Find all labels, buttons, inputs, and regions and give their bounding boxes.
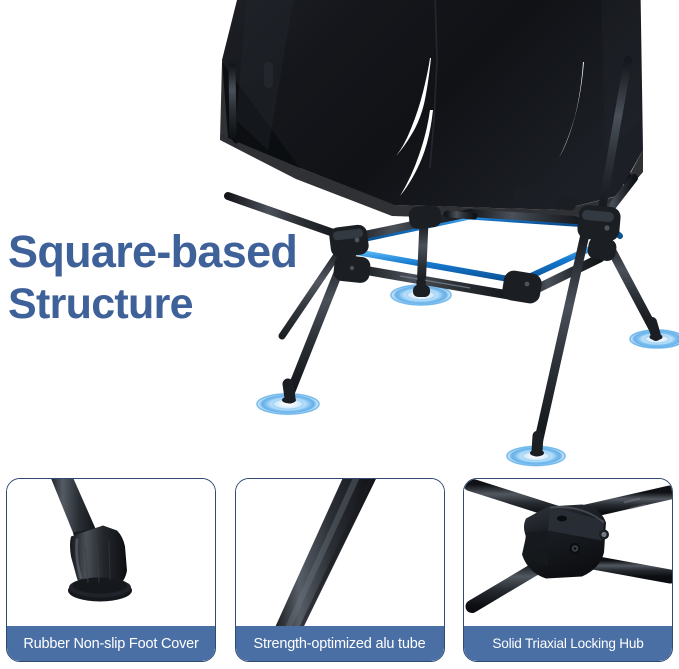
- alu-tube-photo: [236, 479, 444, 626]
- feature-panel-caption-triaxial-hub: Solid Triaxial Locking Hub: [464, 626, 672, 661]
- feature-panel-caption-rubber-foot-cover: Rubber Non-slip Foot Cover: [7, 626, 215, 661]
- feature-panel-triaxial-hub[interactable]: Solid Triaxial Locking Hub: [463, 478, 673, 662]
- product-feature-image: Square-based Structure: [0, 0, 679, 669]
- chair-fabric-seat: [220, 0, 643, 221]
- right-locking-hub: [577, 204, 622, 242]
- chair-illustration: [0, 0, 679, 472]
- left-locking-hub: [328, 224, 369, 258]
- feature-panel-caption-alu-tube: Strength-optimized alu tube: [236, 626, 444, 661]
- feature-panels: Rubber Non-slip Foot Cover: [0, 472, 679, 669]
- rubber-foot-cover-photo: [7, 479, 215, 626]
- feature-panel-alu-tube[interactable]: Strength-optimized alu tube: [235, 478, 445, 662]
- left-lower-hub: [333, 254, 372, 284]
- feature-panel-rubber-foot-cover[interactable]: Rubber Non-slip Foot Cover: [6, 478, 216, 662]
- rubber-feet: [282, 282, 663, 456]
- hero-chair-photo: Square-based Structure: [0, 0, 679, 472]
- triaxial-hub-photo: [464, 479, 672, 626]
